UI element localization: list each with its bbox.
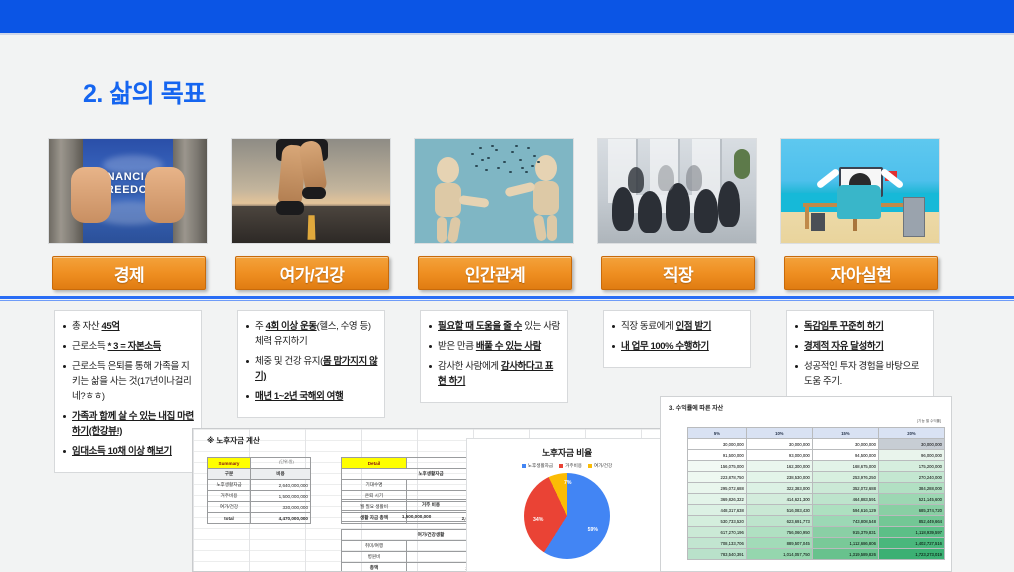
word-swarm-icon: [467, 143, 541, 179]
col-header: 20%: [878, 428, 944, 439]
category-chip-leisure-health[interactable]: 여가/건강: [235, 256, 389, 290]
slide-root: 2. 삶의 목표 FINANCIAL FREEDOM 경제 여가/건: [0, 0, 1014, 570]
category-chip-self-realization[interactable]: 자아실현: [784, 256, 938, 290]
list-item: 독감임투 꾸준히 하기: [791, 319, 927, 334]
table-header-row: 5% 10% 15% 20%: [688, 428, 945, 439]
col-header: 구분: [208, 469, 251, 480]
returns-table-panel[interactable]: 3. 수익률에 따른 자산 [기능 별 수익률] 5% 10% 15% 20% …: [660, 396, 952, 572]
trash-bin-icon: [811, 213, 825, 231]
list-item: 성공적인 투자 경험을 바탕으로 도움 주기.: [791, 359, 927, 389]
list-item: 주 4회 이상 운동(헬스, 수영 등) 체력 유지하기: [242, 319, 378, 349]
table-row-total: total4,470,000,000: [208, 513, 311, 524]
bullet-box-self-realization: 독감임투 꾸준히 하기 경제적 자유 달성하기 성공적인 투자 경험을 바탕으로…: [786, 310, 934, 403]
list-item: 임대소득 10채 이상 해보기: [59, 444, 195, 459]
table-row: 617,270,196756,060,950915,379,8311,118,9…: [688, 527, 945, 538]
chart-title: 노후자금 비율: [467, 446, 667, 459]
detail-header: Detail: [342, 458, 407, 469]
list-item: 직장 동료에게 인점 받기: [608, 319, 744, 334]
photo-runner: [231, 138, 391, 244]
category-column-workplace: 직장: [597, 138, 757, 290]
list-item: 받은 만큼 배풀 수 있는 사람: [425, 339, 561, 354]
category-chip-workplace[interactable]: 직장: [601, 256, 755, 290]
category-chip-relationships[interactable]: 인간관계: [418, 256, 572, 290]
photo-financial-freedom: FINANCIAL FREEDOM: [48, 138, 208, 244]
col-header: 비용: [251, 469, 311, 480]
col-header: 10%: [746, 428, 812, 439]
plant-icon: [734, 149, 750, 179]
pie-slice-label: 59%: [588, 527, 598, 533]
top-accent-bar-edge: [0, 33, 1014, 35]
list-item: 총 자산 45억: [59, 319, 195, 334]
pie-slice-label: 34%: [533, 517, 543, 523]
legend-item: 여가/건강: [588, 463, 612, 469]
returns-table-note: [기능 별 수익률]: [917, 419, 941, 424]
table-row: 노후생활자금2,640,000,000: [208, 480, 311, 491]
chair-icon: [837, 185, 881, 219]
table-row: 30,000,00030,000,00030,000,00030,000,000: [688, 439, 945, 450]
table-row: 156,075,000162,300,000168,675,000175,200…: [688, 461, 945, 472]
chair-base-shape: [853, 219, 857, 231]
col-header: 15%: [812, 428, 878, 439]
bullet-box-workplace: 직장 동료에게 인점 받기 내 업무 100% 수행하기: [603, 310, 751, 368]
returns-table: 5% 10% 15% 20% 30,000,00030,000,00030,00…: [687, 427, 945, 560]
table-row: 448,317,638516,083,430594,616,129685,374…: [688, 505, 945, 516]
returns-table-title: 3. 수익률에 따른 자산: [669, 403, 723, 412]
list-item: 매년 1~2년 국해외 여행: [242, 389, 378, 404]
list-item: 경제적 자유 달성하기: [791, 339, 927, 354]
spreadsheet-title: ※ 노후자금 계산: [207, 435, 260, 446]
pie-slice-label: 7%: [564, 480, 572, 486]
section-divider-secondary: [0, 300, 1014, 301]
table-row: 295,072,688322,383,000352,072,688384,288…: [688, 483, 945, 494]
section-divider: [0, 296, 1014, 299]
list-item: 필요할 때 도움을 줄 수 있는 사람: [425, 319, 561, 334]
legend-item: 노후생활자금: [522, 463, 553, 469]
pc-tower-icon: [903, 197, 925, 237]
chart-legend: 노후생활자금 거주비용 여가/건강: [467, 463, 667, 469]
table-row: 223,878,750238,530,000253,976,250270,240…: [688, 472, 945, 483]
hand-right-icon: [145, 167, 185, 223]
list-item: 체중 및 건강 유지(몸 맘가지지 않기): [242, 354, 378, 384]
category-column-relationships: 인간관계: [414, 138, 574, 290]
list-item: 감사한 사람에게 감사하다고 표현 하기: [425, 359, 561, 389]
page-title: 2. 삶의 목표: [83, 74, 206, 110]
category-chip-economy[interactable]: 경제: [52, 256, 206, 290]
legend-item: 거주비용: [559, 463, 582, 469]
table-row: 369,826,322414,621,300464,883,591521,145…: [688, 494, 945, 505]
list-item: 근로소득 은퇴를 통해 가족을 지키는 삶을 사는 것(17년이나걸리네?ㅎㅎ): [59, 359, 195, 404]
list-item: 내 업무 100% 수행하기: [608, 339, 744, 354]
photo-meeting: [597, 138, 757, 244]
category-column-economy: FINANCIAL FREEDOM 경제: [48, 138, 208, 290]
table-row: 783,540,3911,014,057,7501,319,589,8261,7…: [688, 549, 945, 560]
table-row: 530,733,520623,691,773743,808,548852,449…: [688, 516, 945, 527]
pie-chart-panel[interactable]: 노후자금 비율 노후생활자금 거주비용 여가/건강 59% 34% 7%: [466, 438, 668, 572]
photo-mannequins: [414, 138, 574, 244]
table-row: 708,133,706889,507,0451,112,686,8061,402…: [688, 538, 945, 549]
summary-table: Summary 구분 비용 노후생활자금2,640,000,000 거주비용1,…: [207, 457, 311, 524]
table-row: 91,500,00093,000,00094,500,00096,000,000: [688, 450, 945, 461]
list-item: 근로소득 * 3 = 자본소득: [59, 339, 195, 354]
summary-header: Summary: [208, 458, 251, 469]
table-row: 거주비용1,500,000,000: [208, 491, 311, 502]
shoe-icon: [302, 187, 326, 199]
list-item: 가족과 함께 살 수 있는 내집 마련하기(한강뷰!): [59, 409, 195, 439]
bullet-box-leisure-health: 주 4회 이상 운동(헬스, 수영 등) 체력 유지하기 체중 및 건강 유지(…: [237, 310, 385, 418]
table-row: 여가/건강330,000,000: [208, 502, 311, 513]
bullet-box-economy: 총 자산 45억 근로소득 * 3 = 자본소득 근로소득 은퇴를 통해 가족을…: [54, 310, 202, 473]
pie-chart: 59% 34% 7%: [524, 473, 610, 559]
shoe-icon: [276, 201, 304, 215]
top-accent-bar: [0, 0, 1014, 33]
category-column-self-realization: 자아실현: [780, 138, 940, 290]
road-stripe-icon: [308, 215, 316, 239]
category-column-leisure-health: 여가/건강: [231, 138, 391, 290]
col-header: 5%: [688, 428, 747, 439]
bullet-box-relationships: 필요할 때 도움을 줄 수 있는 사람 받은 만큼 배풀 수 있는 사람 감사한…: [420, 310, 568, 403]
hand-left-icon: [71, 167, 111, 223]
photo-self-realization: [780, 138, 940, 244]
